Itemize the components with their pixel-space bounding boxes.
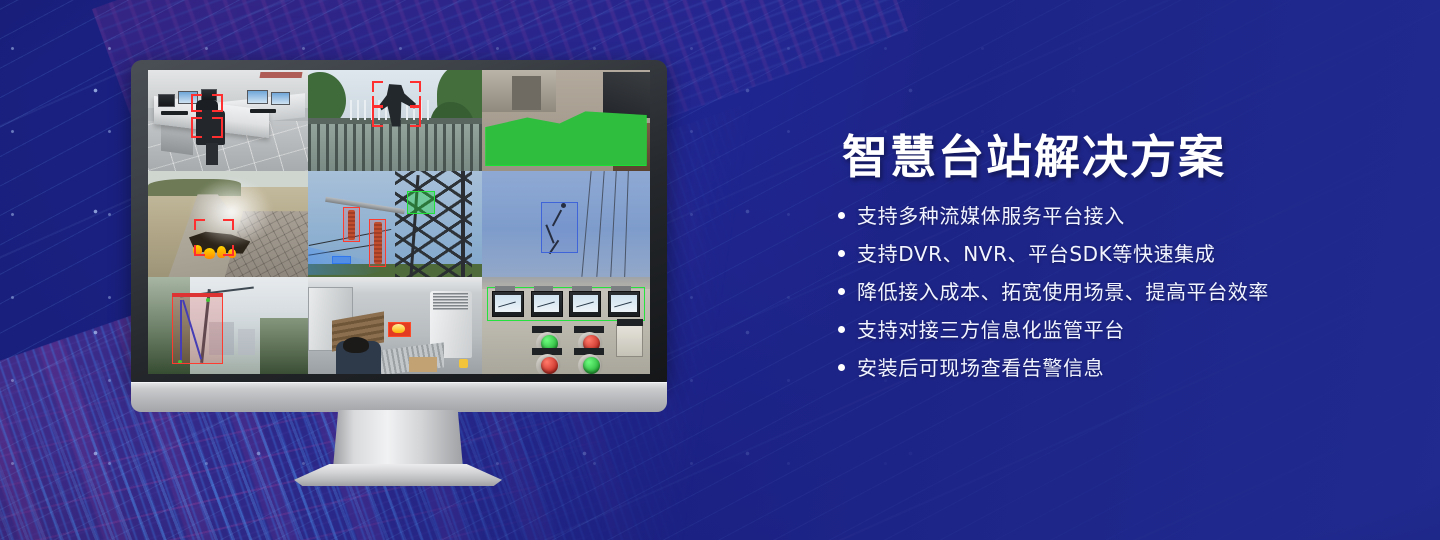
video-cell-equipment-room[interactable] <box>308 277 482 374</box>
feature-text: 支持DVR、NVR、平台SDK等快速集成 <box>857 244 1215 264</box>
feature-text: 安装后可现场查看告警信息 <box>857 358 1104 378</box>
feature-text: 支持对接三方信息化监管平台 <box>857 320 1125 340</box>
video-cell-tilted-pole[interactable] <box>148 277 308 374</box>
banner-content: 智慧台站解决方案 支持多种流媒体服务平台接入 支持DVR、NVR、平台SDK等快… <box>838 132 1398 396</box>
video-cell-transmission-tower[interactable] <box>308 171 482 277</box>
list-item: 安装后可现场查看告警信息 <box>838 358 1398 378</box>
bullet-dot-icon <box>838 326 845 333</box>
detection-box-insulator-1 <box>343 207 360 242</box>
monitor-stand-base <box>294 464 502 486</box>
monitor-chin <box>131 382 667 412</box>
monitor-screen <box>148 70 650 374</box>
list-item: 支持DVR、NVR、平台SDK等快速集成 <box>838 244 1398 264</box>
feature-list: 支持多种流媒体服务平台接入 支持DVR、NVR、平台SDK等快速集成 降低接入成… <box>838 206 1398 378</box>
video-cell-fence-climb[interactable] <box>308 70 482 171</box>
feature-text: 支持多种流媒体服务平台接入 <box>857 206 1125 226</box>
feature-text: 降低接入成本、拓宽使用场景、提高平台效率 <box>857 282 1269 302</box>
detection-tag-pole <box>172 293 223 297</box>
bullet-dot-icon <box>838 250 845 257</box>
video-wall-grid <box>148 70 650 374</box>
video-cell-grass-fire[interactable] <box>148 171 308 277</box>
list-item: 支持多种流媒体服务平台接入 <box>838 206 1398 226</box>
video-cell-overhead-line[interactable] <box>482 171 650 277</box>
detection-box-line-object <box>541 202 578 253</box>
bullet-dot-icon <box>838 364 845 371</box>
detection-area-outline <box>485 105 646 166</box>
video-cell-green-tarp-yard[interactable] <box>482 70 650 171</box>
page-title: 智慧台站解决方案 <box>842 132 1398 184</box>
monitor-device <box>131 60 667 484</box>
detection-box-insulator-2 <box>369 219 386 268</box>
list-item: 支持对接三方信息化监管平台 <box>838 320 1398 340</box>
indicator-lamp-green-2 <box>583 357 600 374</box>
bullet-dot-icon <box>838 212 845 219</box>
list-item: 降低接入成本、拓宽使用场景、提高平台效率 <box>838 282 1398 302</box>
bullet-dot-icon <box>838 288 845 295</box>
indicator-lamp-red-2 <box>541 357 558 374</box>
monitor-stand-neck <box>333 410 463 468</box>
detection-box-pole-tilt <box>172 296 223 364</box>
video-cell-control-cabinet[interactable] <box>482 277 650 374</box>
video-cell-control-room[interactable] <box>148 70 308 171</box>
detection-box-foreign-object <box>407 191 435 214</box>
monitor-bezel <box>131 60 667 384</box>
banner-stage: 智慧台站解决方案 支持多种流媒体服务平台接入 支持DVR、NVR、平台SDK等快… <box>0 0 1440 540</box>
